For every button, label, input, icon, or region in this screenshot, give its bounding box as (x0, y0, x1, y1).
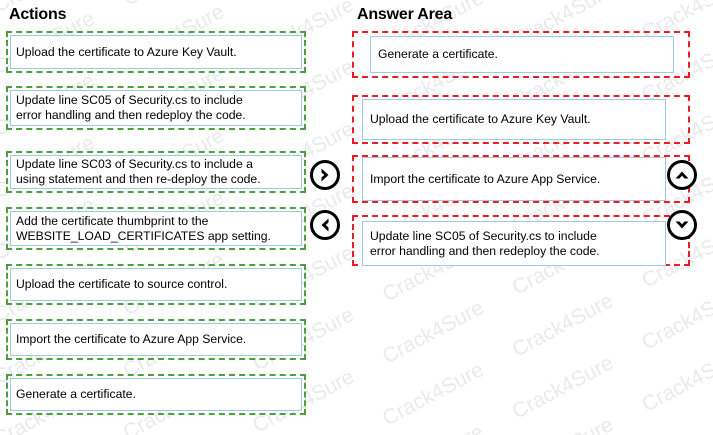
answer-slot[interactable]: Update line SC05 of Security.cs to inclu… (352, 215, 690, 266)
action-box[interactable]: Upload the certificate to source control… (10, 268, 302, 301)
list-item[interactable]: Upload the certificate to Azure Key Vaul… (6, 31, 306, 73)
move-down-button[interactable] (667, 210, 697, 240)
answer-box[interactable]: Upload the certificate to Azure Key Vaul… (362, 99, 666, 140)
move-up-button[interactable] (667, 160, 697, 190)
action-box[interactable]: Add the certificate thumbprint to the WE… (10, 211, 302, 246)
list-item[interactable]: Update line SC05 of Security.cs to inclu… (6, 86, 306, 130)
answer-box[interactable]: Import the certificate to Azure App Serv… (362, 157, 666, 201)
action-box[interactable]: Import the certificate to Azure App Serv… (10, 323, 302, 356)
chevron-down-icon (673, 216, 691, 234)
answer-slot[interactable]: Import the certificate to Azure App Serv… (352, 155, 690, 203)
answer-box[interactable]: Update line SC05 of Security.cs to inclu… (362, 221, 666, 266)
answer-label: Generate a certificate. (378, 47, 498, 62)
action-label: Generate a certificate. (16, 387, 136, 402)
list-item[interactable]: Generate a certificate. (6, 374, 306, 415)
list-item[interactable]: Add the certificate thumbprint to the WE… (6, 207, 306, 250)
action-box[interactable]: Generate a certificate. (10, 378, 302, 411)
move-left-button[interactable] (310, 210, 340, 240)
action-box[interactable]: Upload the certificate to Azure Key Vaul… (10, 35, 302, 69)
drag-drop-ordering-question: Crack4SureCrack4SureCrack4SureCrack4Sure… (0, 0, 713, 435)
answer-box[interactable]: Generate a certificate. (370, 36, 674, 73)
chevron-up-icon (673, 166, 691, 184)
chevron-left-icon (316, 216, 334, 234)
action-label: Update line SC05 of Security.cs to inclu… (16, 93, 246, 123)
answer-label: Update line SC05 of Security.cs to inclu… (370, 229, 600, 259)
action-label: Update line SC03 of Security.cs to inclu… (16, 157, 261, 187)
list-item[interactable]: Update line SC03 of Security.cs to inclu… (6, 151, 306, 193)
answer-slot[interactable]: Generate a certificate. (352, 31, 690, 78)
action-label: Import the certificate to Azure App Serv… (16, 332, 246, 347)
action-label: Upload the certificate to Azure Key Vaul… (16, 45, 237, 60)
list-item[interactable]: Import the certificate to Azure App Serv… (6, 319, 306, 360)
action-label: Add the certificate thumbprint to the WE… (16, 214, 271, 244)
answer-slot[interactable]: Upload the certificate to Azure Key Vaul… (352, 95, 690, 144)
list-item[interactable]: Upload the certificate to source control… (6, 264, 306, 305)
action-box[interactable]: Update line SC05 of Security.cs to inclu… (10, 90, 302, 126)
answer-area-title: Answer Area (357, 6, 452, 24)
answer-label: Upload the certificate to Azure Key Vaul… (370, 112, 591, 127)
action-label: Upload the certificate to source control… (16, 277, 227, 292)
action-box[interactable]: Update line SC03 of Security.cs to inclu… (10, 155, 302, 189)
actions-column-title: Actions (9, 6, 66, 24)
move-right-button[interactable] (310, 160, 340, 190)
chevron-right-icon (316, 166, 334, 184)
answer-label: Import the certificate to Azure App Serv… (370, 172, 600, 187)
